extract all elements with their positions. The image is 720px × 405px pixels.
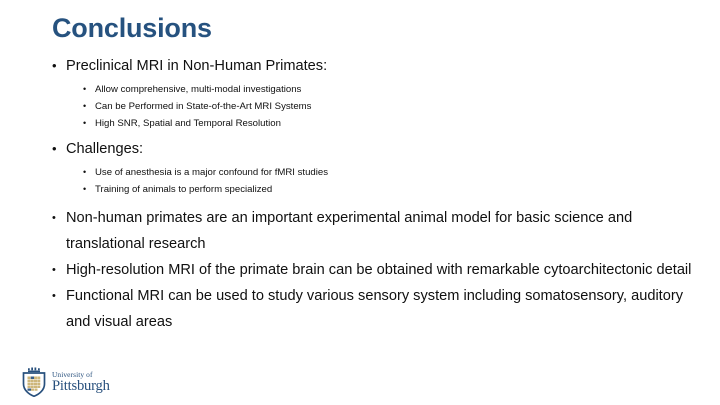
list-item: • Functional MRI can be used to study va… (0, 283, 720, 335)
university-of-pittsburgh-logo: University of Pittsburgh (21, 366, 110, 398)
bullet-list: • Preclinical MRI in Non-Human Primates:… (0, 56, 720, 335)
bullet-marker-icon: • (52, 257, 66, 283)
list-item: • Can be Performed in State-of-the-Art M… (0, 98, 720, 115)
pitt-wordmark-line1: University of (52, 371, 110, 378)
page-title: Conclusions (52, 15, 212, 42)
bullet-marker-icon: • (52, 283, 66, 309)
list-item-label: Can be Performed in State-of-the-Art MRI… (95, 98, 720, 115)
list-item: • Preclinical MRI in Non-Human Primates: (0, 56, 720, 76)
list-item: • High SNR, Spatial and Temporal Resolut… (0, 115, 720, 132)
list-item-label: High-resolution MRI of the primate brain… (66, 257, 700, 283)
pitt-wordmark-line2: Pittsburgh (52, 379, 110, 394)
list-item-label: Preclinical MRI in Non-Human Primates: (66, 56, 706, 76)
bullet-marker-icon: • (52, 56, 66, 76)
pitt-wordmark: University of Pittsburgh (52, 371, 110, 394)
bullet-marker-icon: • (83, 164, 95, 181)
list-item: • High-resolution MRI of the primate bra… (0, 257, 720, 283)
list-item-label: Functional MRI can be used to study vari… (66, 283, 700, 335)
spacer (0, 132, 720, 139)
list-item: • Allow comprehensive, multi-modal inves… (0, 81, 720, 98)
bullet-marker-icon: • (83, 81, 95, 98)
slide-canvas: Conclusions • Preclinical MRI in Non-Hum… (0, 0, 720, 405)
spacer (0, 198, 720, 205)
list-item-label: Non-human primates are an important expe… (66, 205, 700, 257)
bullet-marker-icon: • (52, 205, 66, 231)
list-item: • Challenges: (0, 139, 720, 159)
list-item: • Use of anesthesia is a major confound … (0, 164, 720, 181)
list-item-label: Challenges: (66, 139, 706, 159)
list-item-label: Allow comprehensive, multi-modal investi… (95, 81, 720, 98)
list-item-label: Training of animals to perform specializ… (95, 181, 720, 198)
list-item-label: High SNR, Spatial and Temporal Resolutio… (95, 115, 720, 132)
list-item: • Non-human primates are an important ex… (0, 205, 720, 257)
list-item-label: Use of anesthesia is a major confound fo… (95, 164, 720, 181)
bullet-marker-icon: • (52, 139, 66, 159)
bullet-marker-icon: • (83, 115, 95, 132)
pitt-shield-icon (21, 367, 47, 397)
bullet-marker-icon: • (83, 98, 95, 115)
list-item: • Training of animals to perform special… (0, 181, 720, 198)
bullet-marker-icon: • (83, 181, 95, 198)
